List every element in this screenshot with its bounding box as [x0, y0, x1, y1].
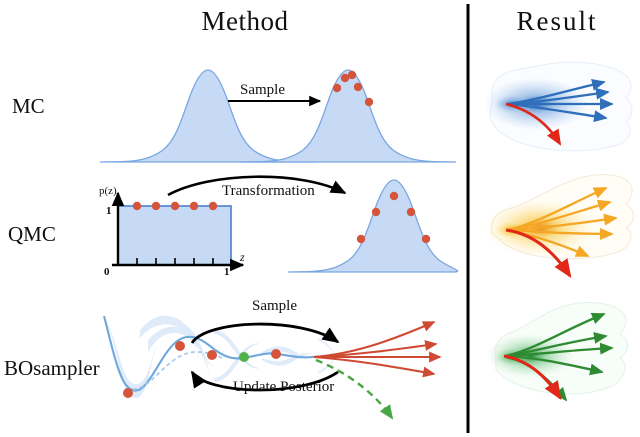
result-bosampler	[486, 303, 628, 400]
bo-predicted-dashed-arrow	[316, 360, 392, 418]
result-qmc	[484, 175, 634, 276]
figure-vector-layer	[0, 0, 640, 437]
mc-sampled-distribution	[240, 70, 456, 162]
figure-canvas: Method Result MC QMC BOsampler Sample Tr…	[0, 0, 640, 437]
bo-candidate-point	[239, 352, 249, 362]
qmc-transformation-arrow	[168, 177, 345, 195]
result-mc	[484, 62, 632, 151]
qmc-uniform-plot	[112, 193, 243, 265]
mc-source-distribution	[100, 70, 316, 162]
bo-update-posterior-arrow	[192, 372, 338, 390]
bo-sample-arrow	[192, 324, 338, 343]
qmc-transformed-distribution	[288, 180, 458, 272]
bo-trajectory-fan	[314, 322, 440, 374]
